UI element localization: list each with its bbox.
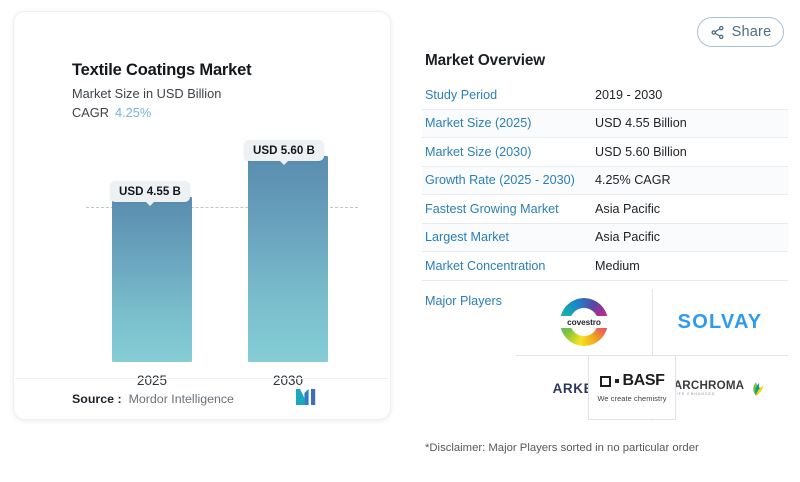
row-key: Market Size (2025) [422, 116, 595, 130]
player-logo-basf: BASF We create chemistry [588, 355, 676, 420]
bar-value-label-2025: USD 4.55 B [110, 181, 190, 202]
bar-value-label-2030: USD 5.60 B [244, 140, 324, 161]
row-key: Largest Market [422, 230, 595, 244]
basf-square-icon [600, 376, 611, 387]
solvay-wordmark: SOLVAY [678, 311, 763, 334]
player-logo-solvay: SOLVAY [652, 289, 788, 355]
market-snapshot-page: Share Textile Coatings Market Market Siz… [0, 0, 800, 482]
major-players-label: Major Players [425, 294, 502, 308]
chart-title: Textile Coatings Market [72, 61, 251, 80]
row-value: USD 5.60 Billion [595, 145, 687, 159]
cagr-value: 4.25% [115, 105, 151, 120]
basf-dot-icon [615, 379, 619, 383]
archroma-leaf-icon [746, 378, 766, 398]
market-overview-panel: Market Overview Study Period 2019 - 2030… [422, 0, 788, 482]
chart-card: Textile Coatings Market Market Size in U… [13, 11, 391, 420]
archroma-wordmark: ARCHROMA [674, 380, 745, 392]
row-value: Asia Pacific [595, 230, 660, 244]
chart-cagr: CAGR 4.25% [72, 105, 151, 120]
table-row: Fastest Growing Market Asia Pacific [422, 195, 788, 224]
covestro-wordmark: covestro [553, 316, 615, 328]
source-value: Mordor Intelligence [129, 392, 234, 406]
row-value: 4.25% CAGR [595, 173, 671, 187]
table-row: Study Period 2019 - 2030 [422, 81, 788, 110]
basf-wordmark: BASF [623, 372, 665, 390]
bar-2030[interactable] [248, 156, 328, 362]
market-overview-table: Study Period 2019 - 2030 Market Size (20… [422, 81, 788, 281]
market-overview-title: Market Overview [425, 52, 545, 70]
chart-subtitle: Market Size in USD Billion [72, 86, 221, 101]
row-key: Fastest Growing Market [422, 202, 595, 216]
player-logo-covestro: covestro [516, 289, 652, 355]
bar-2025[interactable] [112, 197, 192, 362]
bar-chart-plot-area: USD 4.55 B USD 5.60 B 2025 2030 [28, 137, 378, 382]
row-value: Medium [595, 259, 640, 273]
row-key: Market Size (2030) [422, 145, 595, 159]
disclaimer-text: *Disclaimer: Major Players sorted in no … [425, 442, 699, 454]
table-row: Market Concentration Medium [422, 252, 788, 281]
archroma-tagline: LIFE ENHANCED [674, 393, 745, 397]
row-value: 2019 - 2030 [595, 88, 662, 102]
source-label: Source : [72, 392, 122, 406]
row-value: USD 4.55 Billion [595, 116, 687, 130]
mordor-intelligence-logo-icon [296, 389, 318, 410]
source-strip: Source : Mordor Intelligence [15, 378, 389, 419]
table-row: Market Size (2025) USD 4.55 Billion [422, 110, 788, 139]
row-key: Growth Rate (2025 - 2030) [422, 173, 595, 187]
row-key: Study Period [422, 88, 595, 102]
table-row: Market Size (2030) USD 5.60 Billion [422, 138, 788, 167]
table-row: Growth Rate (2025 - 2030) 4.25% CAGR [422, 167, 788, 196]
row-key: Market Concentration [422, 259, 595, 273]
table-row: Largest Market Asia Pacific [422, 224, 788, 253]
cagr-label: CAGR [72, 105, 109, 120]
row-value: Asia Pacific [595, 202, 660, 216]
basf-tagline: We create chemistry [597, 394, 666, 403]
